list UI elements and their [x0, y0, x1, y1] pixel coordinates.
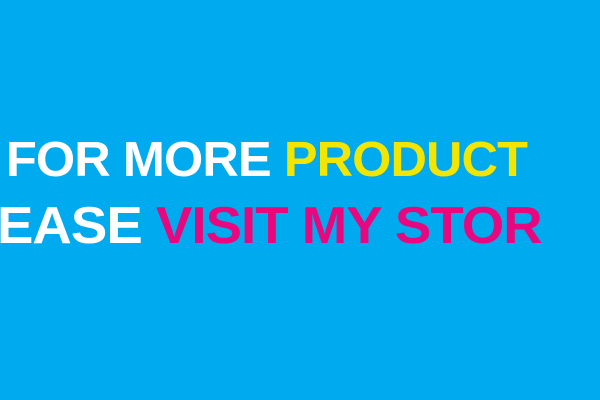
headline-segment-please-clipped: EASE: [0, 197, 142, 255]
headline-line-two: EASE VISIT MY STOR: [0, 200, 542, 252]
headline-segment-for-more: FOR MORE: [6, 133, 284, 187]
headline-segment-product: PRODUCT: [284, 133, 527, 187]
headline-line-one: FOR MORE PRODUCT: [6, 136, 527, 185]
headline-segment-visit-my-store: VISIT MY STOR: [142, 197, 542, 255]
headline-block: FOR MORE PRODUCT EASE VISIT MY STOR: [0, 0, 600, 400]
promo-banner: FOR MORE PRODUCT EASE VISIT MY STOR: [0, 0, 600, 400]
